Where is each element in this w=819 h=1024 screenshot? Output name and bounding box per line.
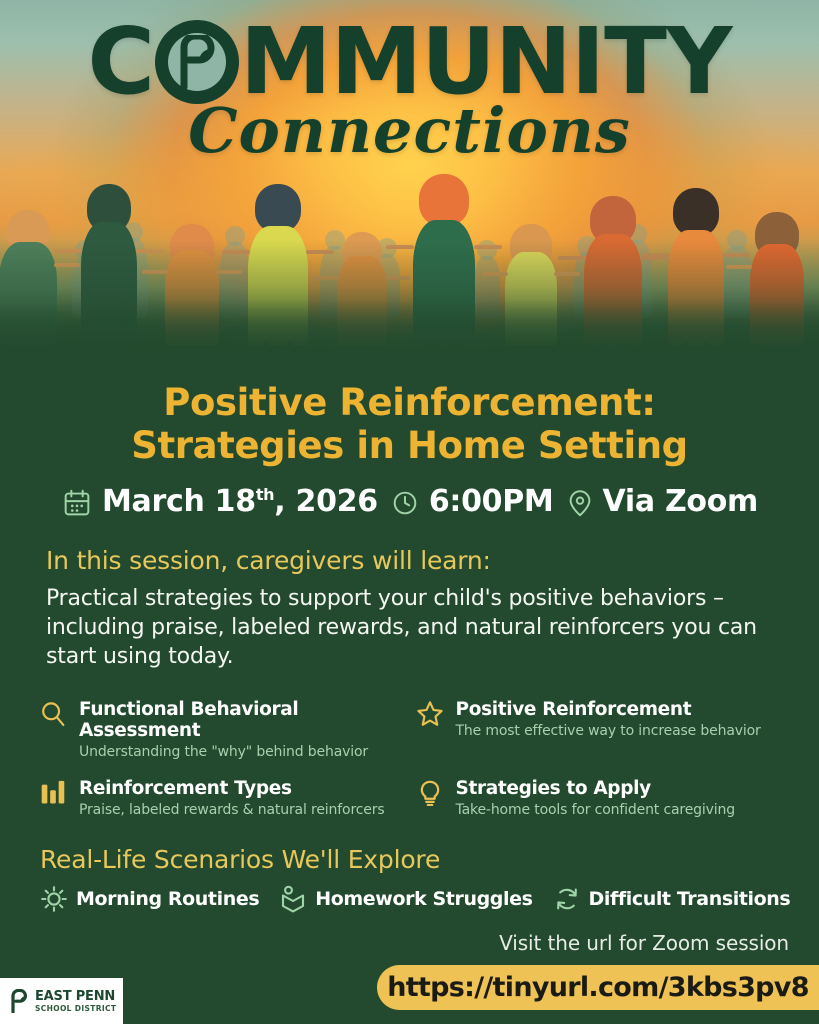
scenario-label: Difficult Transitions: [589, 888, 791, 910]
lightbulb-icon: [415, 777, 445, 811]
event-title-line2: Strategies in Home Setting: [0, 425, 819, 468]
calendar-icon: [61, 484, 93, 520]
poster-content: Positive Reinforcement: Strategies in Ho…: [0, 360, 819, 1024]
clock-icon: [390, 486, 420, 518]
hero-bottom-fade: [0, 240, 819, 360]
feature-title: Reinforcement Types: [79, 778, 385, 799]
scenarios-row: Morning Routines Homework Struggles: [40, 885, 779, 913]
event-title-line1: Positive Reinforcement:: [0, 382, 819, 425]
brand-wordmark: C MMUNITY Connections: [0, 18, 819, 167]
location-pin-icon: [566, 486, 594, 518]
feature-subtitle: Praise, labeled rewards & natural reinfo…: [79, 802, 385, 819]
wordmark-community-post: MMUNITY: [240, 18, 731, 106]
feature-subtitle: The most effective way to increase behav…: [456, 723, 761, 740]
scenarios-section: Real-Life Scenarios We'll Explore Mornin…: [0, 845, 819, 913]
feature-item: Functional Behavioral Assessment Underst…: [38, 698, 405, 761]
features-grid: Functional Behavioral Assessment Underst…: [0, 698, 819, 819]
session-learn-section: In this session, caregivers will learn: …: [0, 546, 819, 672]
feature-title: Strategies to Apply: [456, 778, 736, 799]
wordmark-community: C MMUNITY: [0, 18, 819, 106]
magnifier-icon: [38, 698, 68, 732]
refresh-cycle-icon: [553, 885, 581, 913]
hero-banner: C MMUNITY Connections: [0, 0, 819, 360]
star-icon: [415, 698, 445, 732]
zoom-url-button[interactable]: https://tinyurl.com/3kbs3pv8: [377, 965, 819, 1010]
event-date-main: March 18: [102, 484, 256, 519]
feature-subtitle: Take-home tools for confident caregiving: [456, 802, 736, 819]
event-date-text: March 18th, 2026: [102, 484, 378, 519]
event-date-ordinal: th: [256, 485, 274, 504]
event-location: Via Zoom: [566, 484, 759, 519]
feature-subtitle: Understanding the "why" behind behavior: [79, 744, 405, 761]
feature-title: Positive Reinforcement: [456, 699, 761, 720]
bar-chart-icon: [38, 777, 68, 811]
cta-note: Visit the url for Zoom session: [0, 931, 819, 955]
feature-item: Positive Reinforcement The most effectiv…: [415, 698, 782, 761]
event-date: March 18th, 2026: [61, 484, 378, 520]
feature-title: Functional Behavioral Assessment: [79, 699, 405, 742]
wordmark-community-pre: C: [88, 18, 155, 106]
page-title: Positive Reinforcement: Strategies in Ho…: [0, 382, 819, 468]
poster-root: C MMUNITY Connections Positive Reinforce…: [0, 0, 819, 1024]
scenarios-heading: Real-Life Scenarios We'll Explore: [40, 845, 779, 874]
leaf-p-mark-icon: [175, 35, 219, 89]
event-meta-row: March 18th, 2026 6:00PM Via Zoom: [0, 484, 819, 520]
scenario-label: Homework Struggles: [315, 888, 532, 910]
feature-item: Strategies to Apply Take-home tools for …: [415, 777, 782, 819]
district-name: EAST PENN: [35, 990, 116, 1003]
learn-heading: In this session, caregivers will learn:: [46, 546, 773, 575]
east-penn-leaf-logo-icon: [155, 20, 239, 104]
zoom-url-text: https://tinyurl.com/3kbs3pv8: [387, 972, 809, 1003]
learn-body-text: Practical strategies to support your chi…: [46, 584, 773, 672]
district-logo: EAST PENN SCHOOL DISTRICT: [0, 978, 123, 1024]
district-subname: SCHOOL DISTRICT: [35, 1005, 116, 1013]
scenario-item: Difficult Transitions: [553, 885, 791, 913]
scenario-item: Morning Routines: [40, 885, 259, 913]
event-title-block: Positive Reinforcement: Strategies in Ho…: [0, 360, 819, 468]
event-time-text: 6:00PM: [429, 484, 554, 519]
scenario-label: Morning Routines: [76, 888, 259, 910]
event-time: 6:00PM: [390, 484, 554, 519]
sun-icon: [40, 885, 68, 913]
east-penn-leaf-logo-icon: [8, 989, 30, 1013]
event-date-year: , 2026: [274, 484, 378, 519]
scenario-item: Homework Struggles: [279, 885, 532, 913]
event-location-text: Via Zoom: [603, 484, 759, 519]
feature-item: Reinforcement Types Praise, labeled rewa…: [38, 777, 405, 819]
open-book-icon: [279, 885, 307, 913]
